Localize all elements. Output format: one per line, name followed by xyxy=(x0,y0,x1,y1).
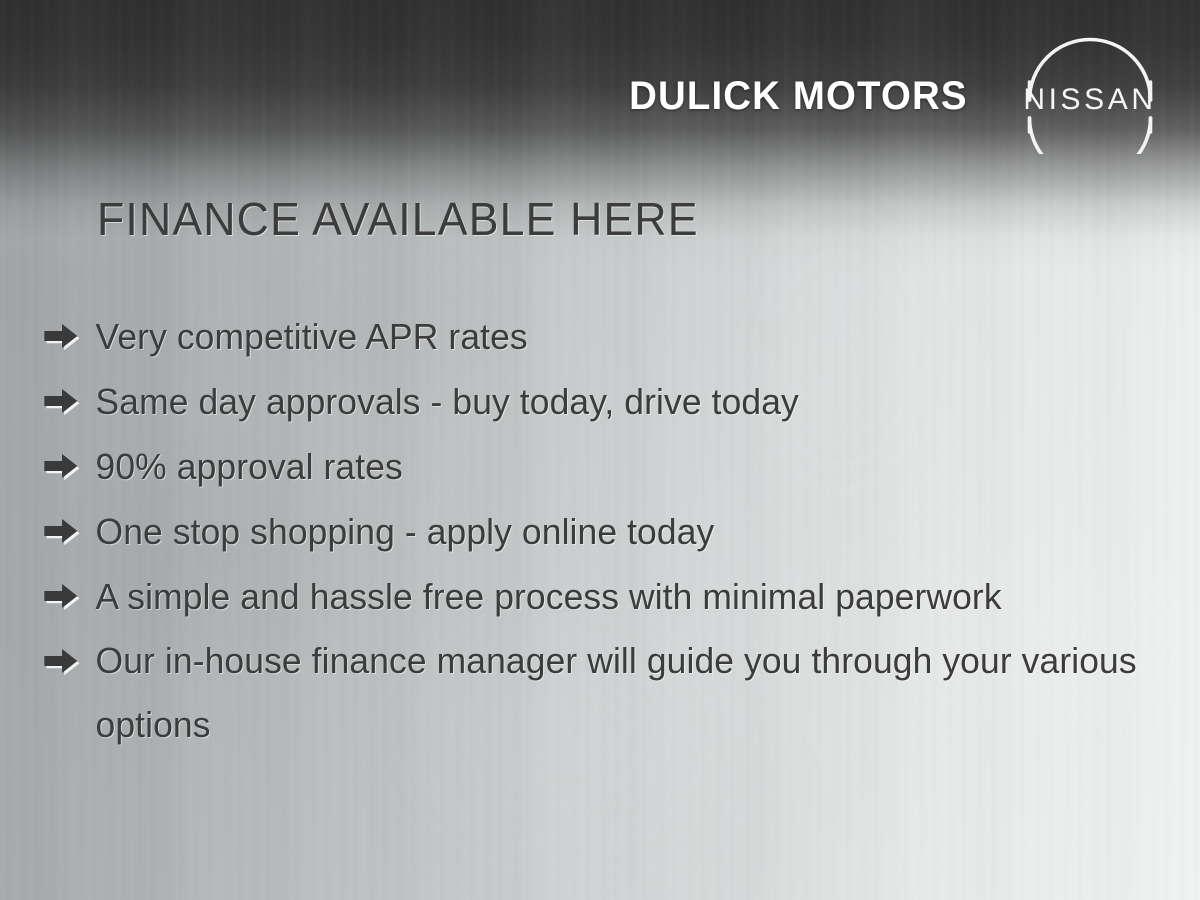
dealership-brand-name: DULICK MOTORS xyxy=(629,74,968,119)
list-item-label: Our in-house finance manager will guide … xyxy=(96,640,1137,745)
list-item: Very competitive APR rates xyxy=(0,304,1182,369)
slide-title: FINANCE AVAILABLE HERE xyxy=(97,196,1167,242)
presentation-slide: DULICK MOTORS NISSAN FINANCE AVAI xyxy=(0,0,1200,900)
arrow-right-icon xyxy=(42,386,79,416)
svg-text:NISSAN: NISSAN xyxy=(1023,83,1156,116)
arrow-right-icon xyxy=(42,321,79,351)
arrow-right-icon xyxy=(42,451,79,481)
list-item-label: Same day approvals - buy today, drive to… xyxy=(96,381,799,422)
nissan-logo: NISSAN xyxy=(1010,28,1170,154)
list-item-label: Very competitive APR rates xyxy=(96,316,528,357)
list-item: One stop shopping - apply online today xyxy=(0,499,1182,564)
slide-header: DULICK MOTORS NISSAN xyxy=(0,0,1200,170)
list-item-label: One stop shopping - apply online today xyxy=(96,511,715,552)
arrow-right-icon xyxy=(42,646,79,676)
arrow-right-icon xyxy=(42,516,79,546)
list-item-label: 90% approval rates xyxy=(96,446,403,487)
list-item: 90% approval rates xyxy=(0,434,1182,499)
list-item-label: A simple and hassle free process with mi… xyxy=(96,576,1002,617)
arrow-right-icon xyxy=(42,581,79,611)
finance-benefits-list: Very competitive APR rates Same day appr… xyxy=(0,304,1200,757)
slide-body: FINANCE AVAILABLE HERE Very competitive … xyxy=(0,196,1200,757)
list-item: Our in-house finance manager will guide … xyxy=(0,629,1182,757)
list-item: Same day approvals - buy today, drive to… xyxy=(0,369,1182,434)
list-item: A simple and hassle free process with mi… xyxy=(0,564,1182,629)
